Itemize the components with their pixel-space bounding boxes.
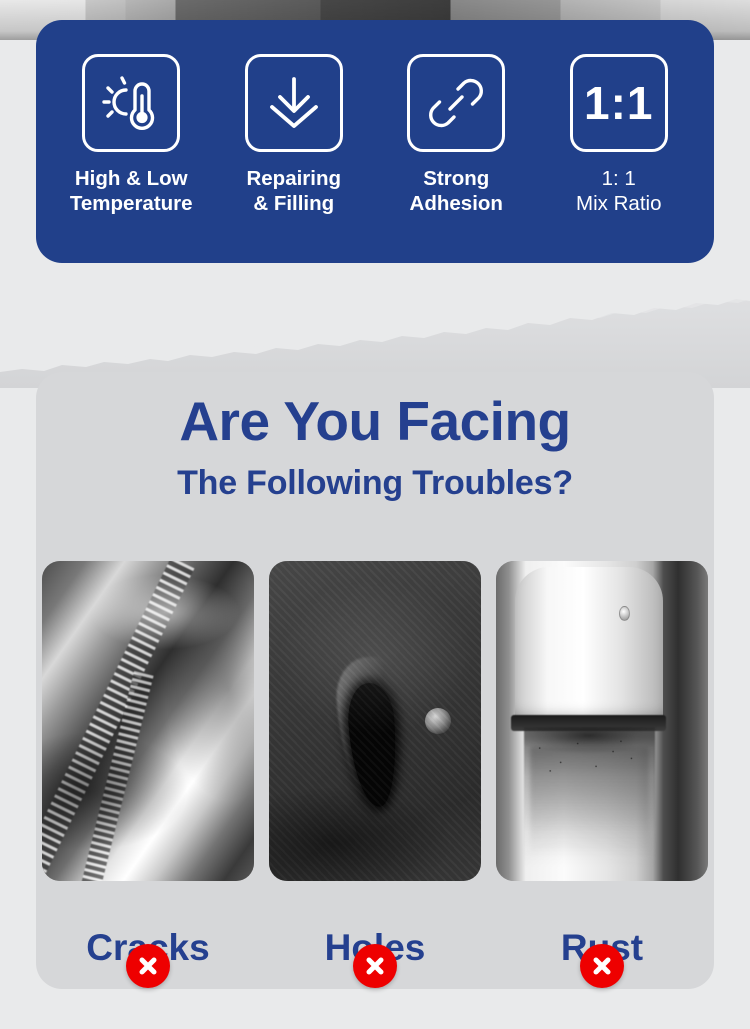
feature-label-adhesion: Strong Adhesion — [410, 166, 503, 216]
download-arrow-chevron-icon — [245, 54, 343, 152]
torn-paper-edge — [0, 268, 750, 388]
x-mark-badge — [580, 944, 624, 988]
headline-secondary: The Following Troubles? — [36, 465, 714, 502]
x-mark-badge — [353, 944, 397, 988]
product-feature-page: High & Low Temperature Repairing & Filli… — [0, 0, 750, 1029]
headline-primary: Are You Facing — [36, 392, 714, 451]
cracked-welded-chrome-pipe-photo — [42, 561, 254, 881]
feature-label-repairing: Repairing & Filling — [246, 166, 341, 216]
trouble-card-list: Cracks Holes — [42, 561, 708, 966]
trouble-card-rust: Rust — [496, 561, 708, 966]
mix-ratio-value: 1:1 — [584, 80, 653, 126]
holed-dark-steel-plate-photo — [269, 561, 481, 881]
feature-label-mix-ratio: 1: 1 Mix Ratio — [576, 166, 661, 216]
rusted-white-pipe-joint-photo — [496, 561, 708, 881]
trouble-card-cracks: Cracks — [42, 561, 254, 966]
x-mark-badge — [126, 944, 170, 988]
feature-item-mix-ratio: 1:1 1: 1 Mix Ratio — [539, 54, 699, 216]
feature-item-adhesion: Strong Adhesion — [376, 54, 536, 216]
temperature-sun-thermometer-icon — [82, 54, 180, 152]
trouble-card-holes: Holes — [269, 561, 481, 966]
feature-item-temperature: High & Low Temperature — [51, 54, 211, 216]
chain-link-icon — [407, 54, 505, 152]
section-heading: Are You Facing The Following Troubles? — [36, 392, 714, 503]
feature-item-repairing: Repairing & Filling — [214, 54, 374, 216]
feature-banner: High & Low Temperature Repairing & Filli… — [36, 20, 714, 263]
mix-ratio-text-icon: 1:1 — [570, 54, 668, 152]
feature-label-temperature: High & Low Temperature — [70, 166, 193, 216]
